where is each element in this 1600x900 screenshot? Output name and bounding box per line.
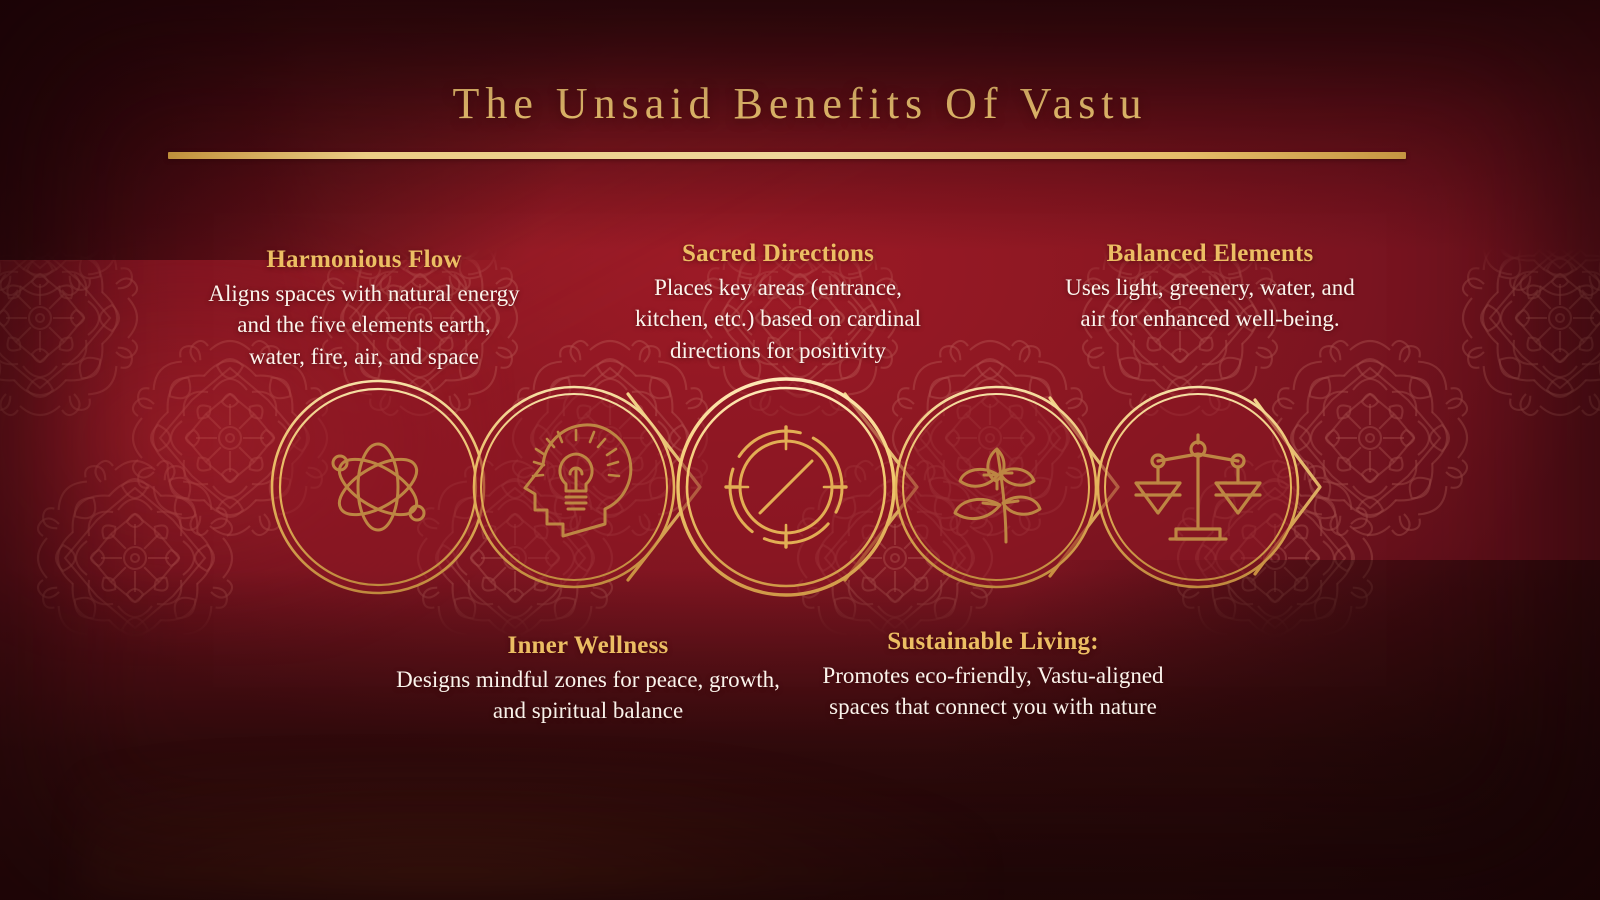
caption-line: Aligns spaces with natural energy: [208, 281, 519, 306]
title-divider-rule: [168, 152, 1406, 159]
caption-title: Inner Wellness: [378, 632, 798, 660]
caption-harmonious-flow: Harmonious Flow Aligns spaces with natur…: [178, 246, 550, 372]
caption-inner-wellness: Inner Wellness Designs mindful zones for…: [378, 632, 798, 727]
caption-line: kitchen, etc.) based on cardinal: [635, 306, 921, 331]
background-warm-floor-glow: [80, 760, 980, 900]
caption-body: Aligns spaces with natural energy and th…: [178, 278, 550, 372]
caption-line: and the five elements earth,: [237, 312, 491, 337]
caption-sustainable-living: Sustainable Living: Promotes eco-friendl…: [798, 628, 1188, 723]
caption-title: Harmonious Flow: [178, 246, 550, 274]
caption-title: Balanced Elements: [1022, 240, 1398, 268]
caption-line: air for enhanced well-being.: [1080, 306, 1339, 331]
caption-line: spaces that connect you with nature: [829, 694, 1157, 719]
caption-title: Sustainable Living:: [798, 628, 1188, 656]
background-topleft-shadow: [0, 0, 780, 260]
caption-sacred-directions: Sacred Directions Places key areas (entr…: [592, 240, 964, 366]
infographic-canvas: The Unsaid Benefits Of Vastu: [0, 0, 1600, 900]
page-title: The Unsaid Benefits Of Vastu: [0, 78, 1600, 129]
caption-line: Uses light, greenery, water, and: [1065, 275, 1354, 300]
caption-title: Sacred Directions: [592, 240, 964, 268]
caption-body: Promotes eco-friendly, Vastu-aligned spa…: [798, 660, 1188, 723]
caption-line: directions for positivity: [670, 338, 886, 363]
caption-line: Places key areas (entrance,: [654, 275, 902, 300]
caption-line: Promotes eco-friendly, Vastu-aligned: [822, 663, 1163, 688]
caption-line: water, fire, air, and space: [249, 344, 479, 369]
caption-line: and spiritual balance: [493, 698, 683, 723]
caption-balanced-elements: Balanced Elements Uses light, greenery, …: [1022, 240, 1398, 335]
caption-body: Uses light, greenery, water, and air for…: [1022, 272, 1398, 335]
caption-body: Designs mindful zones for peace, growth,…: [378, 664, 798, 727]
caption-body: Places key areas (entrance, kitchen, etc…: [592, 272, 964, 366]
caption-line: Designs mindful zones for peace, growth,: [396, 667, 780, 692]
